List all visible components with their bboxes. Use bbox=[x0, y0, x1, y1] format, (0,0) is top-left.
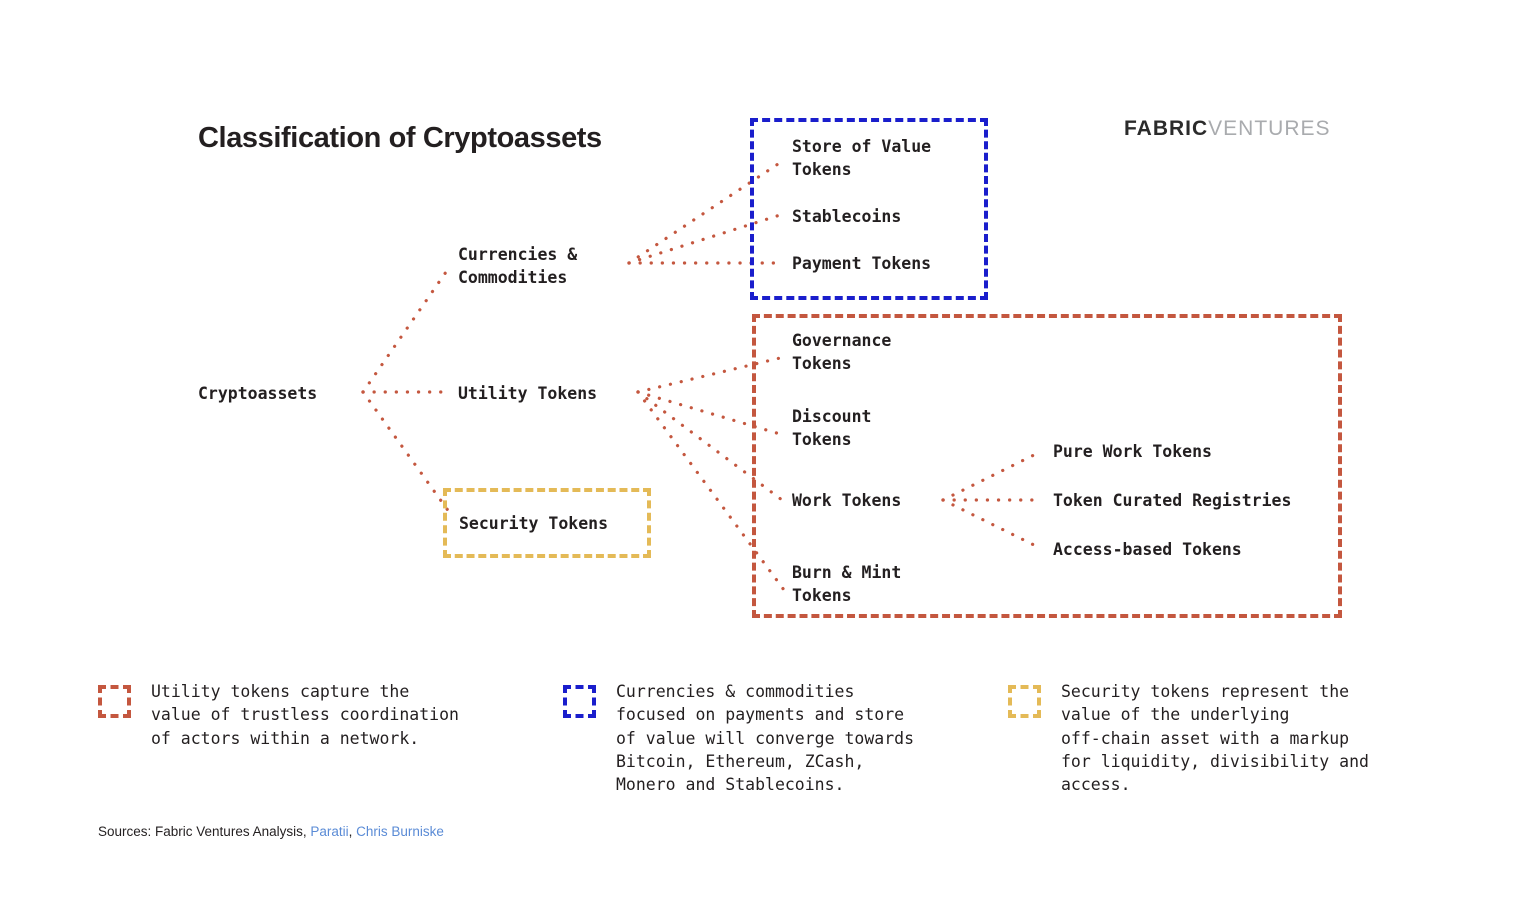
node-utility-tokens: Utility Tokens bbox=[458, 382, 597, 405]
node-governance-tokens: Governance Tokens bbox=[792, 329, 891, 375]
node-discount-tokens: Discount Tokens bbox=[792, 405, 871, 451]
node-token-curated-registries: Token Curated Registries bbox=[1053, 489, 1291, 512]
legend-text-security: Security tokens represent the value of t… bbox=[1061, 680, 1369, 796]
sources-separator: , bbox=[349, 824, 357, 839]
legend-swatch-red-icon bbox=[98, 685, 131, 718]
sources-line: Sources: Fabric Ventures Analysis, Parat… bbox=[98, 824, 444, 839]
node-access-based-tokens: Access-based Tokens bbox=[1053, 538, 1242, 561]
legend-swatch-blue-icon bbox=[563, 685, 596, 718]
node-burn-mint-tokens: Burn & Mint Tokens bbox=[792, 561, 901, 607]
node-stablecoins: Stablecoins bbox=[792, 205, 901, 228]
legend-text-utility: Utility tokens capture the value of trus… bbox=[151, 680, 459, 750]
source-link-chris-burniske[interactable]: Chris Burniske bbox=[356, 824, 444, 839]
legend-swatch-yellow-icon bbox=[1008, 685, 1041, 718]
source-link-paratii[interactable]: Paratii bbox=[310, 824, 348, 839]
node-pure-work-tokens: Pure Work Tokens bbox=[1053, 440, 1212, 463]
legend-text-currencies: Currencies & commodities focused on paym… bbox=[616, 680, 914, 796]
diagram-canvas: Classification of Cryptoassets FABRICVEN… bbox=[0, 0, 1528, 918]
legend-item-currencies: Currencies & commodities focused on paym… bbox=[563, 680, 983, 796]
legend-item-utility: Utility tokens capture the value of trus… bbox=[98, 680, 538, 750]
node-store-of-value-tokens: Store of Value Tokens bbox=[792, 135, 931, 181]
node-currencies-commodities: Currencies & Commodities bbox=[458, 243, 577, 289]
logo-ventures: VENTURES bbox=[1208, 117, 1330, 140]
node-security-tokens: Security Tokens bbox=[459, 512, 608, 535]
node-payment-tokens: Payment Tokens bbox=[792, 252, 931, 275]
sources-prefix: Sources: Fabric Ventures Analysis, bbox=[98, 824, 310, 839]
logo-fabric: FABRIC bbox=[1124, 117, 1208, 140]
node-cryptoassets: Cryptoassets bbox=[198, 382, 317, 405]
legend-item-security: Security tokens represent the value of t… bbox=[1008, 680, 1438, 796]
node-work-tokens: Work Tokens bbox=[792, 489, 901, 512]
page-title: Classification of Cryptoassets bbox=[198, 122, 602, 155]
brand-logo: FABRICVENTURES bbox=[1124, 117, 1331, 141]
